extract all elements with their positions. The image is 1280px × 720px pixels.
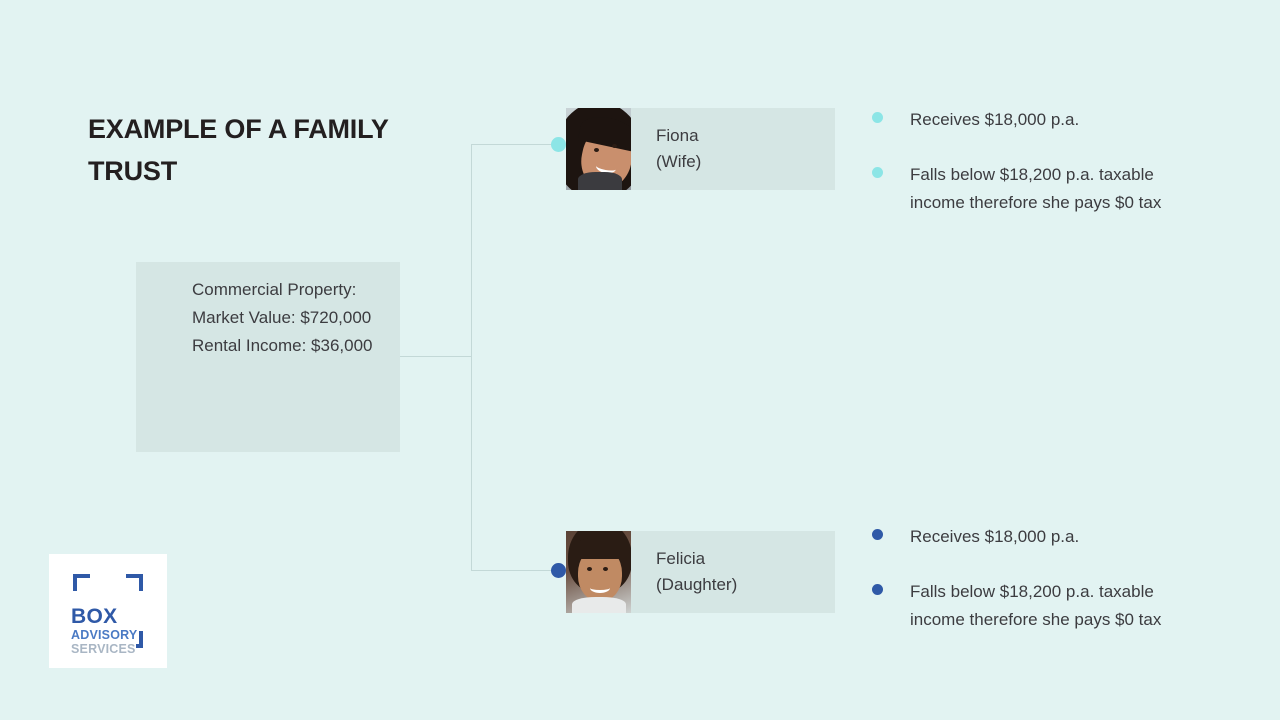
- logo-wordmark: BOX ADVISORY SERVICES: [71, 606, 137, 655]
- node-dot-felicia: [551, 563, 566, 578]
- beneficiary-relation: (Daughter): [656, 572, 835, 598]
- bullet-text: Receives $18,000 p.a.: [910, 106, 1079, 134]
- node-dot-fiona: [551, 137, 566, 152]
- bullet-dot-icon: [872, 529, 883, 540]
- asset-box: Commercial Property: Market Value: $720,…: [136, 262, 400, 452]
- beneficiary-label-fiona: Fiona (Wife): [631, 108, 835, 190]
- bullet-list-felicia: Receives $18,000 p.a. Falls below $18,20…: [872, 523, 1192, 662]
- list-item: Receives $18,000 p.a.: [872, 106, 1192, 134]
- connector-trunk: [400, 356, 472, 357]
- logo-line-services: SERVICES: [71, 643, 137, 656]
- bullet-text: Falls below $18,200 p.a. taxable income …: [910, 578, 1192, 634]
- logo-line-box: BOX: [71, 606, 137, 627]
- bracket-top-right-icon: [126, 574, 143, 591]
- connector-spine: [471, 144, 472, 571]
- bullet-text: Receives $18,000 p.a.: [910, 523, 1079, 551]
- bullet-text: Falls below $18,200 p.a. taxable income …: [910, 161, 1192, 217]
- connector-to-felicia: [471, 570, 563, 571]
- asset-box-text: Commercial Property: Market Value: $720,…: [192, 276, 392, 361]
- beneficiary-relation: (Wife): [656, 149, 835, 175]
- bullet-dot-icon: [872, 167, 883, 178]
- beneficiary-name: Fiona: [656, 123, 835, 149]
- girl-portrait-photo: [566, 531, 631, 613]
- page-title: Example of a family trust: [88, 108, 418, 192]
- beneficiary-card-fiona: Fiona (Wife): [566, 108, 835, 190]
- bullet-dot-icon: [872, 584, 883, 595]
- logo: BOX ADVISORY SERVICES: [49, 554, 167, 668]
- bullet-list-fiona: Receives $18,000 p.a. Falls below $18,20…: [872, 106, 1192, 245]
- list-item: Falls below $18,200 p.a. taxable income …: [872, 161, 1192, 217]
- logo-line-advisory: ADVISORY: [71, 629, 137, 642]
- list-item: Falls below $18,200 p.a. taxable income …: [872, 578, 1192, 634]
- list-item: Receives $18,000 p.a.: [872, 523, 1192, 551]
- beneficiary-card-felicia: Felicia (Daughter): [566, 531, 835, 613]
- bracket-top-left-icon: [73, 574, 90, 591]
- woman-portrait-photo: [566, 108, 631, 190]
- bullet-dot-icon: [872, 112, 883, 123]
- beneficiary-label-felicia: Felicia (Daughter): [631, 531, 835, 613]
- connector-to-fiona: [471, 144, 563, 145]
- beneficiary-name: Felicia: [656, 546, 835, 572]
